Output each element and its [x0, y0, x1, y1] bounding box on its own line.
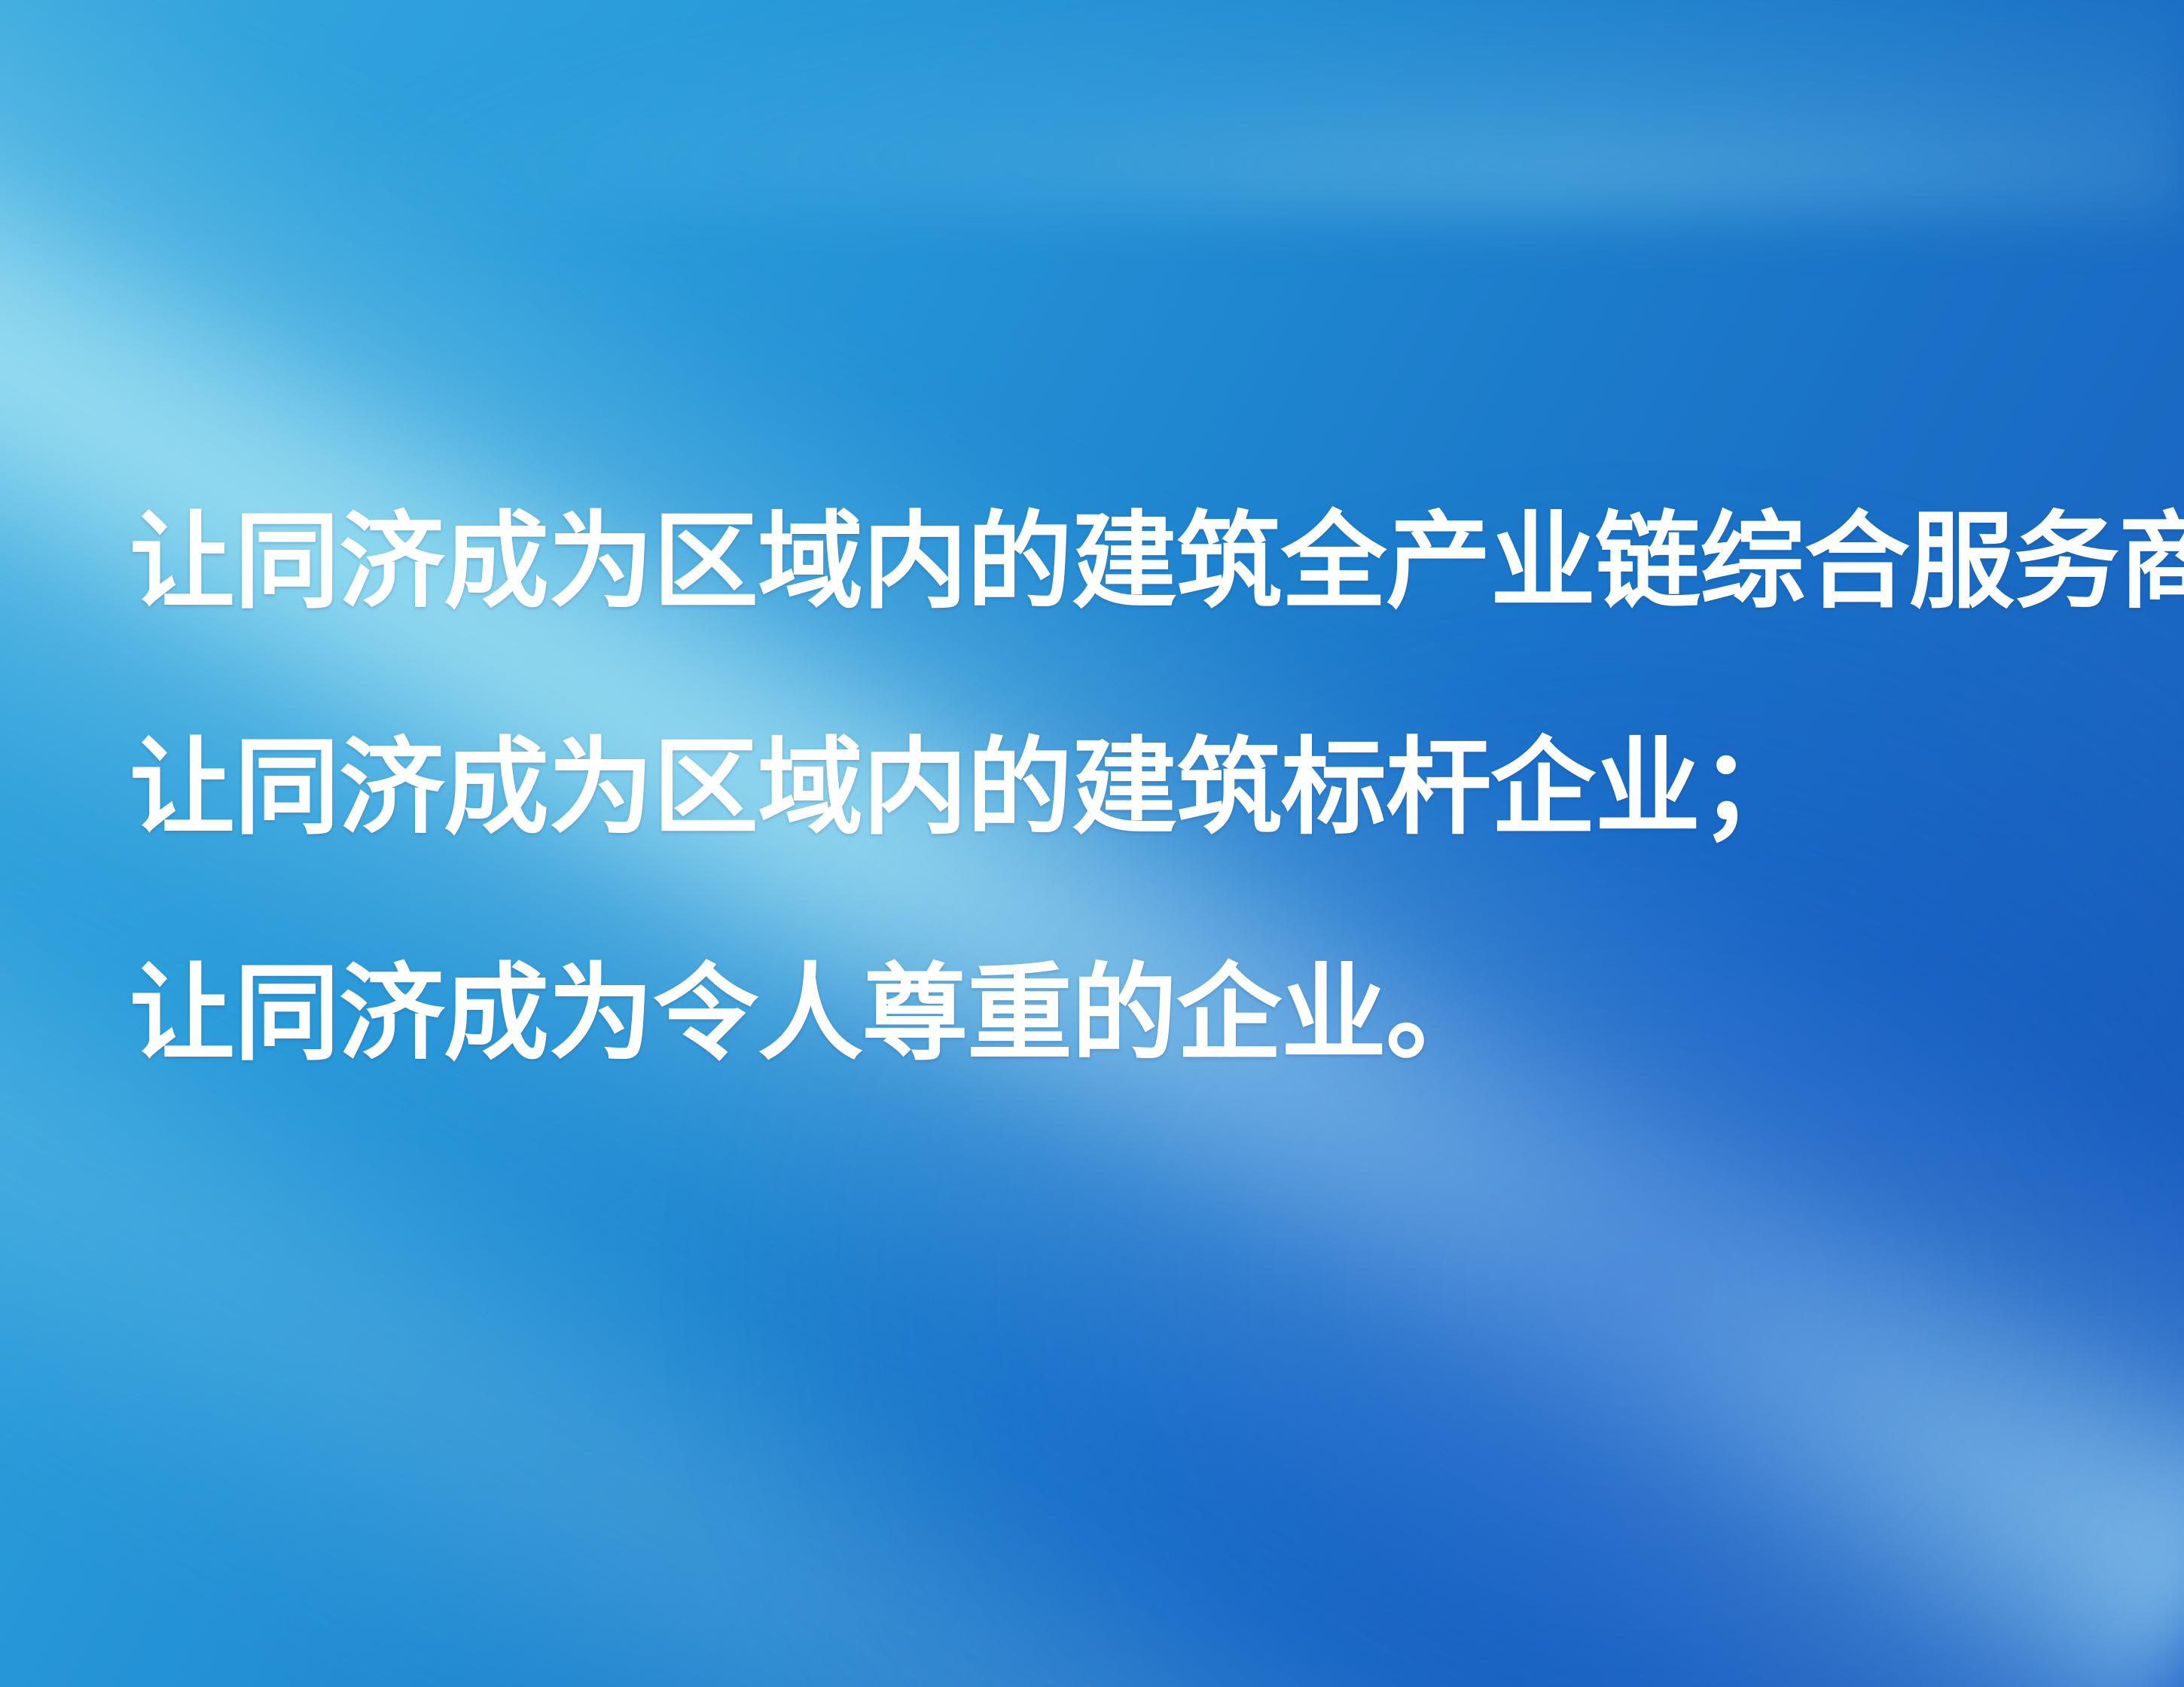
slide-line-2: 让同济成为区域内的建筑标杆企业；	[130, 676, 2133, 901]
background-top-glow	[0, 0, 2184, 211]
presentation-slide: 让同济成为区域内的建筑全产业链综合服务商； 让同济成为区域内的建筑标杆企业； 让…	[0, 0, 2184, 1687]
slide-line-1: 让同济成为区域内的建筑全产业链综合服务商；	[130, 450, 2133, 676]
slide-line-3: 让同济成为令人尊重的企业。	[130, 901, 2133, 1127]
slide-text-block: 让同济成为区域内的建筑全产业链综合服务商； 让同济成为区域内的建筑标杆企业； 让…	[130, 450, 2133, 1127]
